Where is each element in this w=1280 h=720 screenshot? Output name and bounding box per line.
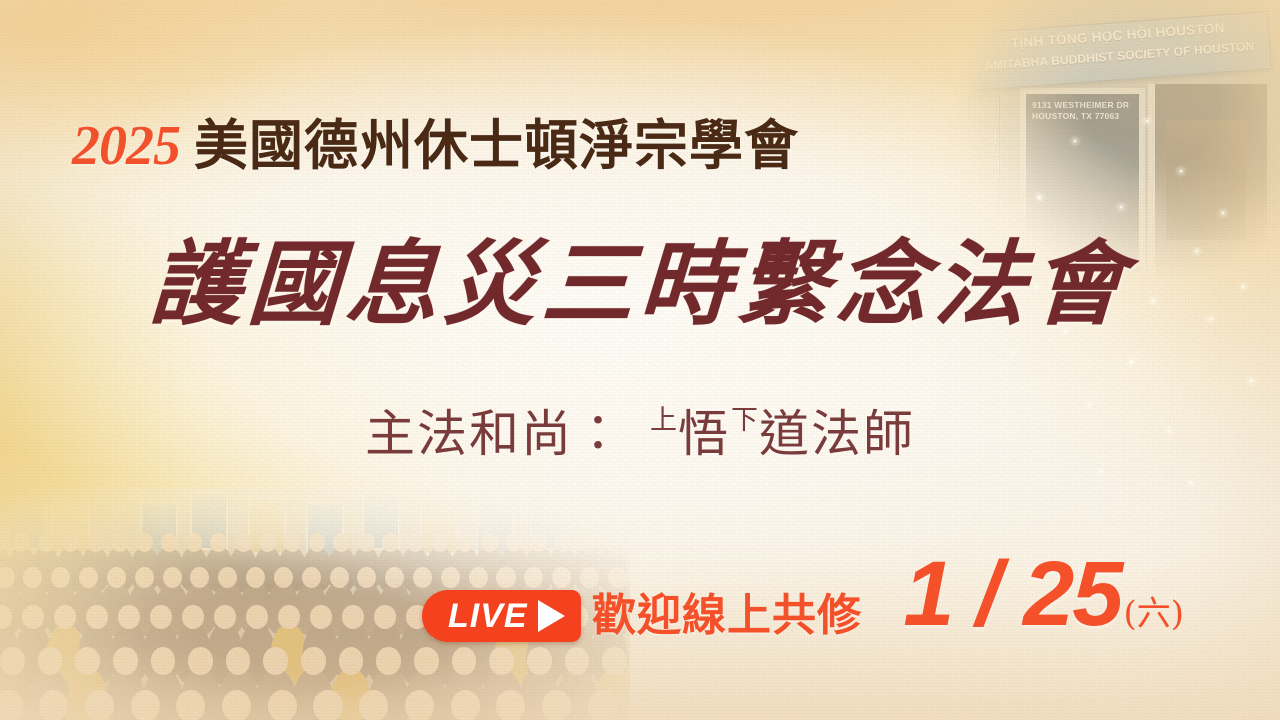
presider-sup-upper: 上	[650, 405, 677, 436]
live-label: LIVE	[448, 599, 528, 633]
organization-name: 美國德州休士頓淨宗學會	[194, 118, 799, 172]
page-title: 護國息災三時繫念法會	[0, 236, 1280, 333]
presider-sup-lower: 下	[731, 405, 758, 436]
presider-name-char-2: 道	[759, 405, 811, 463]
event-date-weekday: (六)	[1123, 597, 1184, 631]
live-badge[interactable]: LIVE	[422, 590, 581, 642]
headline: 2025 美國德州休士頓淨宗學會	[72, 118, 799, 174]
poster-content: 2025 美國德州休士頓淨宗學會 護國息災三時繫念法會 主法和尚：上悟下道法師 …	[0, 0, 1280, 720]
presider-line: 主法和尚：上悟下道法師	[0, 406, 1280, 462]
presider-name-char-1: 悟	[678, 405, 730, 463]
bottom-bar: LIVE 歡迎線上共修 1 / 25 (六)	[0, 586, 1280, 670]
event-year: 2025	[72, 118, 180, 174]
presider-suffix: 法師	[811, 405, 915, 463]
event-date-number: 1 / 25	[903, 548, 1121, 640]
event-poster: 9131 WESTHEIMER DR HOUSTON, TX 77063 休士頓…	[0, 0, 1280, 720]
welcome-message: 歡迎線上共修	[592, 594, 862, 638]
presider-label: 主法和尚：	[365, 405, 625, 463]
event-date: 1 / 25 (六)	[903, 548, 1184, 640]
play-triangle-icon	[538, 600, 565, 632]
